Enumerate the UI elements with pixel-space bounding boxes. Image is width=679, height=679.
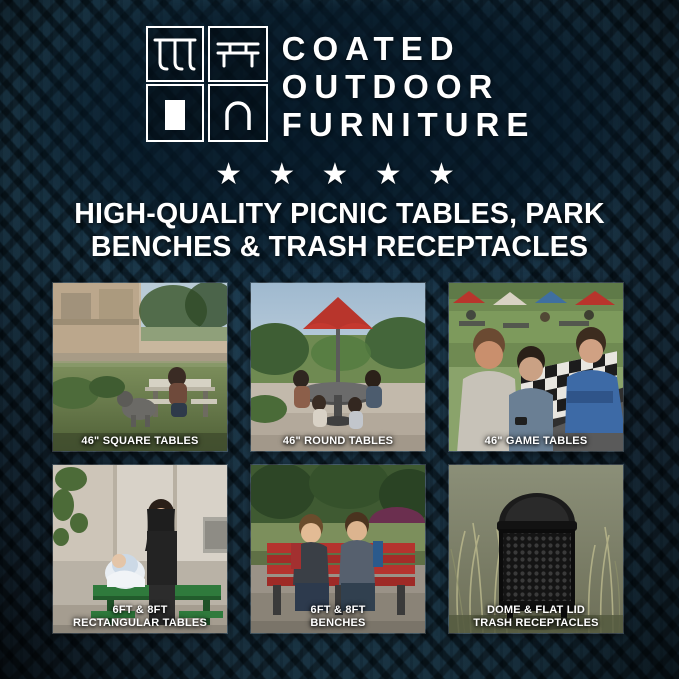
gallery-tile-game-tables[interactable]: 46" GAME TABLES xyxy=(448,282,624,452)
caption-line-2: BENCHES xyxy=(254,617,422,630)
photo-game-table-checkerboard-players xyxy=(449,283,623,451)
product-gallery: 46" SQUARE TABLES xyxy=(52,282,627,634)
gallery-tile-trash-receptacles[interactable]: DOME & FLAT LID TRASH RECEPTACLES xyxy=(448,464,624,634)
logo-cell-bench xyxy=(208,26,268,82)
gallery-caption: 6FT & 8FT BENCHES xyxy=(251,604,425,629)
caption-line-2: RECTANGULAR TABLES xyxy=(56,617,224,630)
caption-line-1: 46" ROUND TABLES xyxy=(254,435,422,448)
star-rating: ★ ★ ★ ★ ★ xyxy=(0,160,679,190)
caption-line-1: 46" SQUARE TABLES xyxy=(56,435,224,448)
brand-logo: COATED OUTDOOR FURNITURE xyxy=(0,24,679,144)
caption-line-1: 6FT & 8FT xyxy=(56,604,224,617)
gallery-tile-rectangular-tables[interactable]: 6FT & 8FT RECTANGULAR TABLES xyxy=(52,464,228,634)
gallery-caption: 46" SQUARE TABLES xyxy=(53,435,227,448)
gallery-caption: 46" GAME TABLES xyxy=(449,435,623,448)
gallery-tile-benches[interactable]: 6FT & 8FT BENCHES xyxy=(250,464,426,634)
caption-line-1: 6FT & 8FT xyxy=(254,604,422,617)
brand-line-1: COATED xyxy=(282,30,536,68)
brand-wordmark: COATED OUTDOOR FURNITURE xyxy=(282,24,536,144)
caption-line-1: DOME & FLAT LID xyxy=(452,604,620,617)
photo-round-table-red-umbrella-family xyxy=(251,283,425,451)
caption-line-2: TRASH RECEPTACLES xyxy=(452,617,620,630)
page-title: HIGH-QUALITY PICNIC TABLES, PARK BENCHES… xyxy=(0,198,679,264)
logo-cell-trash-receptacle xyxy=(146,84,204,142)
gallery-tile-square-tables[interactable]: 46" SQUARE TABLES xyxy=(52,282,228,452)
logo-cell-picnic-table xyxy=(146,26,204,82)
headline-line-2: BENCHES & TRASH RECEPTACLES xyxy=(0,231,679,264)
gallery-tile-round-tables[interactable]: 46" ROUND TABLES xyxy=(250,282,426,452)
logo-cell-arch xyxy=(208,84,268,142)
product-banner: COATED OUTDOOR FURNITURE ★ ★ ★ ★ ★ HIGH-… xyxy=(0,0,679,679)
photo-square-table-woman-dog xyxy=(53,283,227,451)
trash-receptacle-icon xyxy=(148,86,202,140)
gallery-caption: 6FT & 8FT RECTANGULAR TABLES xyxy=(53,604,227,629)
headline-line-1: HIGH-QUALITY PICNIC TABLES, PARK xyxy=(0,198,679,231)
picnic-table-icon xyxy=(148,28,202,80)
arch-icon xyxy=(210,86,266,140)
brand-line-2: OUTDOOR xyxy=(282,68,536,106)
four-quadrant-furniture-icon xyxy=(144,24,268,140)
brand-line-3: FURNITURE xyxy=(282,106,536,144)
bench-icon xyxy=(210,28,266,80)
caption-line-1: 46" GAME TABLES xyxy=(452,435,620,448)
gallery-caption: DOME & FLAT LID TRASH RECEPTACLES xyxy=(449,604,623,629)
gallery-caption: 46" ROUND TABLES xyxy=(251,435,425,448)
